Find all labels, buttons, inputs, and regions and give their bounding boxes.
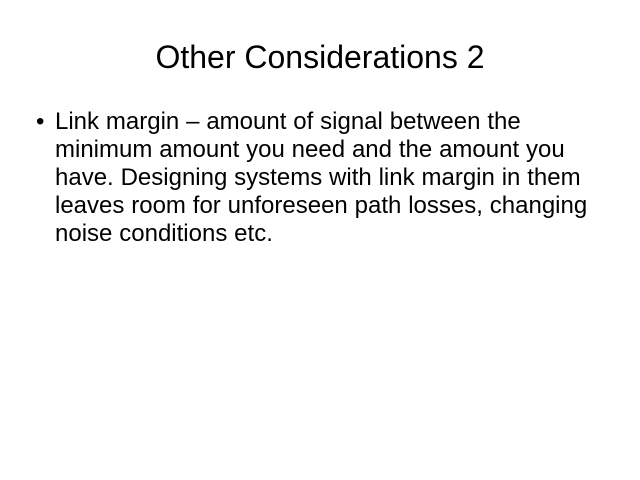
presentation-slide: Other Considerations 2 • Link margin – a… — [0, 0, 640, 480]
bullet-item-text: Link margin – amount of signal between t… — [55, 108, 612, 248]
bullet-point-icon: • — [36, 108, 44, 136]
slide-title: Other Considerations 2 — [32, 38, 608, 76]
slide-body-content: • Link margin – amount of signal between… — [32, 108, 612, 248]
bullet-list-item: • Link margin – amount of signal between… — [32, 108, 612, 248]
